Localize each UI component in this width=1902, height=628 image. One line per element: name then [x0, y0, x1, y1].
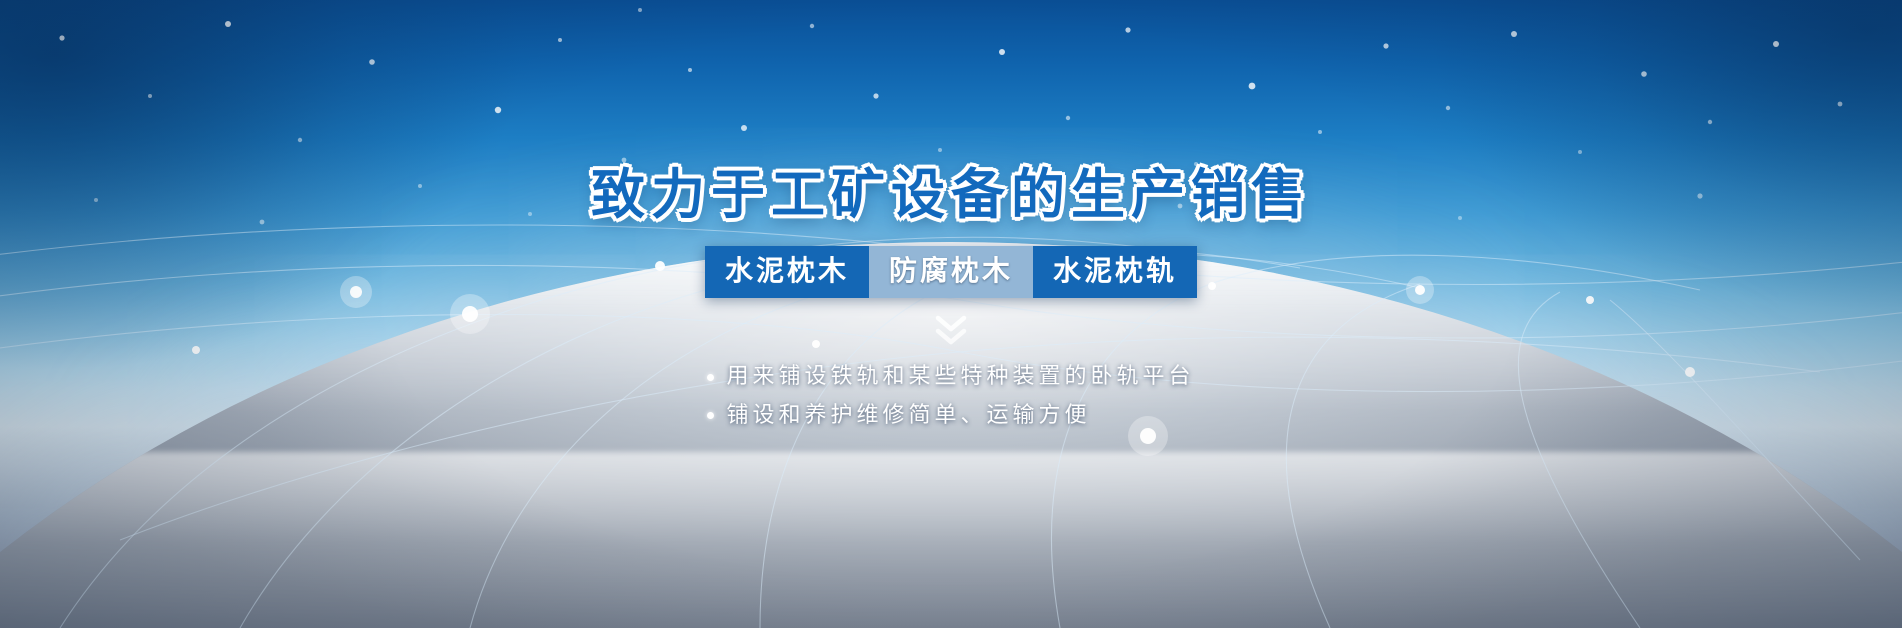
feature-bullet-text: 铺设和养护维修简单、运输方便	[726, 397, 1090, 436]
feature-bullet-text: 用来铺设铁轨和某些特种装置的卧轨平台	[726, 358, 1194, 397]
list-item: 用来铺设铁轨和某些特种装置的卧轨平台	[707, 358, 1194, 397]
product-tag-1[interactable]: 水泥枕木	[705, 246, 869, 298]
product-tag-3[interactable]: 水泥枕轨	[1033, 246, 1197, 298]
bullet-dot-icon	[707, 374, 714, 381]
product-tag-bar: 水泥枕木 防腐枕木 水泥枕轨	[705, 246, 1197, 298]
banner-headline: 致力于工矿设备的生产销售	[591, 168, 1311, 222]
feature-bullet-list: 用来铺设铁轨和某些特种装置的卧轨平台 铺设和养护维修简单、运输方便	[707, 358, 1194, 435]
product-tag-2[interactable]: 防腐枕木	[869, 246, 1033, 298]
hero-banner: 致力于工矿设备的生产销售 水泥枕木 防腐枕木 水泥枕轨 用来铺设铁轨和某些特种装…	[0, 0, 1902, 628]
banner-content: 致力于工矿设备的生产销售 水泥枕木 防腐枕木 水泥枕轨 用来铺设铁轨和某些特种装…	[0, 0, 1902, 628]
double-chevron-down-icon	[934, 312, 968, 348]
list-item: 铺设和养护维修简单、运输方便	[707, 397, 1090, 436]
bullet-dot-icon	[707, 412, 714, 419]
